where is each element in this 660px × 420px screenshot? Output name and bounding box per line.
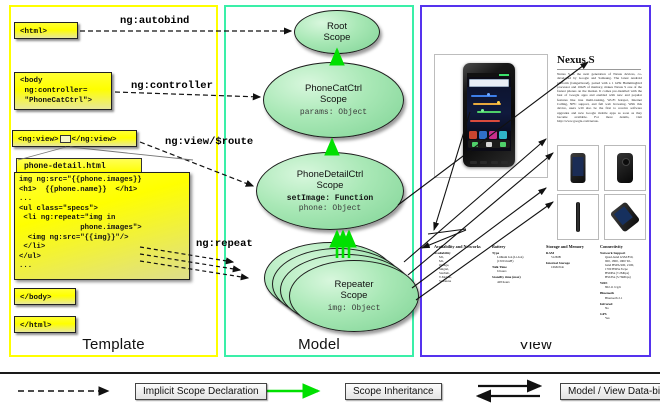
edge-label-autobind: ng:autobind — [120, 15, 189, 27]
specs-col4-row1-v0: 802.11 b/g/n — [600, 285, 644, 289]
phonedetailctrl-scope-title: PhoneDetailCtrl Scope — [297, 169, 364, 191]
phonecatctrl-scope-title: PhoneCatCtrl Scope — [305, 83, 362, 105]
legend-divider — [0, 372, 660, 374]
specs-col3-row1-v0: 16Mx5Gb — [546, 265, 598, 269]
template-panel-label: Template — [11, 336, 216, 353]
specs-col2-row0-v1: (1500 mAH) — [492, 259, 540, 263]
phone-hardware-buttons — [468, 161, 510, 166]
diagram-canvas: Template <html> <body ng:controller= "Ph… — [0, 0, 660, 420]
phone-hero-image — [463, 63, 515, 167]
phonecatctrl-scope-node: PhoneCatCtrl Scope params: Object — [263, 62, 404, 138]
phonedetailctrl-scope-node: PhoneDetailCtrl Scope setImage: Function… — [256, 152, 404, 230]
phone-wallpaper — [467, 87, 511, 131]
product-description: Nexus S is the next generation of Nexus … — [557, 72, 642, 124]
specs-col4-header: Connectivity — [600, 244, 644, 249]
repeater-scope-attr: img: Object — [328, 304, 381, 314]
ngview-tag: <ng:view></ng:view> — [12, 130, 137, 147]
thumb-phone-side-icon — [576, 202, 580, 232]
phonecatctrl-scope-attr: params: Object — [300, 108, 367, 118]
product-title: Nexus S — [557, 54, 595, 66]
specs-col1-row0-v6: Vodafone — [434, 279, 482, 283]
phonedetailctrl-attr-phone: phone: Object — [299, 204, 361, 213]
specs-col4-row3-v0: No — [600, 306, 644, 310]
specs-col2-row1-v0: 6 hours — [492, 269, 540, 273]
edge-label-repeat: ng:repeat — [196, 238, 253, 250]
specs-column-battery: Battery Type Lithium Ion (Li-Ion) (1500 … — [492, 244, 540, 284]
legend-databinding-label: Model / View Data-binding — [560, 383, 660, 400]
phonecatctrl-title-line1: PhoneCatCtrl — [305, 83, 362, 94]
thumb-phone-angled-icon — [610, 201, 641, 232]
specs-table: Availability and Networks Availability M… — [434, 244, 642, 324]
thumbnail-3[interactable] — [557, 194, 599, 240]
thumbnail-2[interactable] — [604, 145, 646, 191]
phonedetailctrl-attr-setimage: setImage: Function — [287, 194, 373, 203]
legend-glyph-databinding — [478, 386, 540, 396]
specs-column-availability: Availability and Networks Availability M… — [434, 244, 482, 283]
root-scope-title: Root Scope — [324, 21, 351, 43]
root-scope-title-line2: Scope — [324, 32, 351, 43]
edge-label-ngview-route: ng:view/$route — [165, 136, 253, 148]
model-panel-label: Model — [226, 336, 412, 353]
phone-app-icons — [469, 131, 509, 139]
repeater-scope-node: Repeater Scope img: Object — [289, 260, 419, 332]
root-scope-title-line1: Root — [327, 21, 347, 32]
phonedetailctrl-title-line2: Scope — [317, 180, 344, 191]
specs-col4-row0-v5: HSUPA (5.76Mbps) — [600, 275, 644, 279]
hero-image-frame — [434, 54, 548, 178]
thumbnail-4[interactable] — [604, 194, 646, 240]
html-open-tag: <html> — [14, 22, 78, 39]
phone-dock — [468, 140, 510, 148]
legend-inheritance-label: Scope Inheritance — [345, 383, 442, 400]
specs-col3-row0-v0: 512MB — [546, 255, 598, 259]
thumbnail-1[interactable] — [557, 145, 599, 191]
title-underline — [557, 69, 641, 70]
thumb-phone-front-icon — [571, 153, 586, 183]
phone-screen — [467, 73, 511, 151]
specs-col1-header: Availability and Networks — [434, 244, 482, 249]
repeater-title-line1: Repeater — [334, 279, 373, 290]
specs-col2-row2-v0: 428 hours — [492, 280, 540, 284]
specs-col4-row2-v0: Bluetooth 2.1 — [600, 296, 644, 300]
body-open-tag: <body ng:controller= "PhoneCatCtrl"> — [14, 72, 112, 110]
body-close-tag: </body> — [14, 288, 76, 305]
specs-col2-header: Battery — [492, 244, 540, 249]
phonedetailctrl-scope-attrs: setImage: Function phone: Object — [287, 194, 373, 214]
partial-filename: phone-detail.html — [16, 158, 142, 173]
repeater-scope-title: Repeater Scope — [334, 279, 373, 301]
repeater-title-line2: Scope — [341, 290, 368, 301]
phonecatctrl-title-line2: Scope — [320, 94, 347, 105]
specs-column-storage: Storage and Memory RAM 512MB Internal St… — [546, 244, 598, 269]
ngview-open-label: <ng:view> — [18, 136, 59, 144]
edge-label-controller: ng:controller — [131, 80, 213, 92]
specs-column-connectivity: Connectivity Network Support Quad-band G… — [600, 244, 644, 320]
phonedetailctrl-title-line1: PhoneDetailCtrl — [297, 169, 364, 180]
partial-code: img ng:src="{{phone.images}} <h1> {{phon… — [14, 172, 190, 280]
specs-col4-row4-v0: Yes — [600, 316, 644, 320]
view-page-mock: Nexus S Nexus S is the next generation o… — [429, 12, 644, 342]
legend-implicit-label: Implicit Scope Declaration — [135, 383, 267, 400]
ngview-close-label: </ng:view> — [72, 136, 117, 144]
specs-col3-header: Storage and Memory — [546, 244, 598, 249]
html-close-tag: </html> — [14, 316, 76, 333]
thumb-phone-back-icon — [617, 153, 633, 183]
root-scope-node: Root Scope — [294, 10, 380, 54]
phone-statusbar — [467, 73, 511, 77]
partial-template-note: phone-detail.html img ng:src="{{phone.im… — [14, 158, 196, 282]
ngview-slot-icon — [60, 135, 71, 143]
phone-searchbar — [469, 79, 509, 87]
